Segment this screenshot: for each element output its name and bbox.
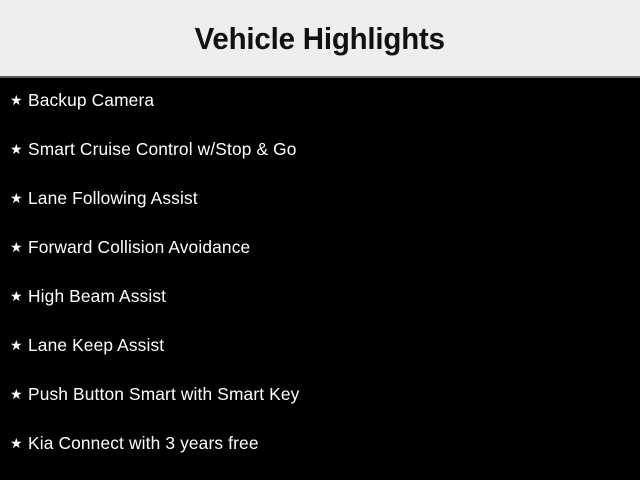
list-item-label: Smart Cruise Control w/Stop & Go [28, 141, 297, 159]
list-item: ★ High Beam Assist [0, 288, 640, 337]
list-item-label: Lane Keep Assist [28, 337, 164, 355]
page-header: Vehicle Highlights [0, 0, 640, 78]
star-icon: ★ [10, 142, 28, 156]
list-item: ★ Lane Following Assist [0, 190, 640, 239]
list-item-label: Push Button Smart with Smart Key [28, 386, 299, 404]
list-item: ★ Forward Collision Avoidance [0, 239, 640, 288]
list-item-label: Backup Camera [28, 92, 154, 110]
list-item-label: Lane Following Assist [28, 190, 198, 208]
list-item: ★ Backup Camera [0, 92, 640, 141]
star-icon: ★ [10, 240, 28, 254]
list-item-label: Forward Collision Avoidance [28, 239, 250, 257]
page-title: Vehicle Highlights [187, 23, 452, 54]
vehicle-highlights-page: Vehicle Highlights ★ Backup Camera ★ Sma… [0, 0, 640, 480]
star-icon: ★ [10, 93, 28, 107]
star-icon: ★ [10, 191, 28, 205]
list-item: ★ Push Button Smart with Smart Key [0, 386, 640, 435]
star-icon: ★ [10, 338, 28, 352]
star-icon: ★ [10, 289, 28, 303]
list-item-label: High Beam Assist [28, 288, 166, 306]
list-item: ★ Kia Connect with 3 years free [0, 435, 640, 480]
list-item: ★ Smart Cruise Control w/Stop & Go [0, 141, 640, 190]
star-icon: ★ [10, 387, 28, 401]
highlights-panel: ★ Backup Camera ★ Smart Cruise Control w… [0, 78, 640, 480]
list-item: ★ Lane Keep Assist [0, 337, 640, 386]
star-icon: ★ [10, 436, 28, 450]
highlights-list: ★ Backup Camera ★ Smart Cruise Control w… [0, 92, 640, 480]
list-item-label: Kia Connect with 3 years free [28, 435, 259, 453]
